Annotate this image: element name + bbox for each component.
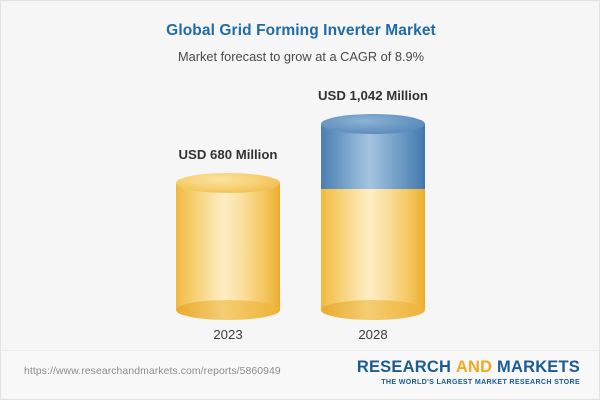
brand-word-research: RESEARCH bbox=[357, 358, 451, 376]
page-title: Global Grid Forming Inverter Market bbox=[1, 22, 600, 40]
category-label-2028: 2028 bbox=[263, 327, 483, 342]
value-label-2023: USD 680 Million bbox=[118, 147, 338, 162]
value-label-2028: USD 1,042 Million bbox=[263, 88, 483, 103]
brand-wordmark: RESEARCH AND MARKETS bbox=[357, 359, 580, 376]
cylinder-foot-2028 bbox=[321, 300, 425, 320]
cylinder-cap-2028 bbox=[321, 114, 425, 134]
brand-word-and: AND bbox=[456, 358, 492, 376]
chart-plot-area: USD 680 Million 2023 USD 1,042 Million bbox=[1, 86, 600, 346]
chart-footer: https://www.researchandmarkets.com/repor… bbox=[2, 350, 600, 398]
chart-subtitle: Market forecast to grow at a CAGR of 8.9… bbox=[1, 49, 600, 64]
source-url-link[interactable]: https://www.researchandmarkets.com/repor… bbox=[24, 366, 281, 377]
chart-card: Global Grid Forming Inverter Market Mark… bbox=[0, 0, 600, 400]
cylinder-2023[interactable] bbox=[176, 183, 280, 310]
brand-word-markets: MARKETS bbox=[497, 358, 580, 376]
cylinder-segment-base-2028 bbox=[321, 189, 425, 310]
cylinder-cap-2023 bbox=[176, 173, 280, 193]
bar-group-2028: USD 1,042 Million 2028 bbox=[321, 86, 425, 346]
chart-header: Global Grid Forming Inverter Market Mark… bbox=[1, 1, 600, 64]
cylinder-body-base-2023 bbox=[176, 183, 280, 310]
bar-group-2023: USD 680 Million 2023 bbox=[176, 86, 280, 346]
cylinder-2028[interactable] bbox=[321, 124, 425, 310]
brand-tagline: THE WORLD'S LARGEST MARKET RESEARCH STOR… bbox=[357, 378, 580, 386]
brand-logo[interactable]: RESEARCH AND MARKETS THE WORLD'S LARGEST… bbox=[357, 359, 580, 386]
cylinder-foot-2023 bbox=[176, 300, 280, 320]
